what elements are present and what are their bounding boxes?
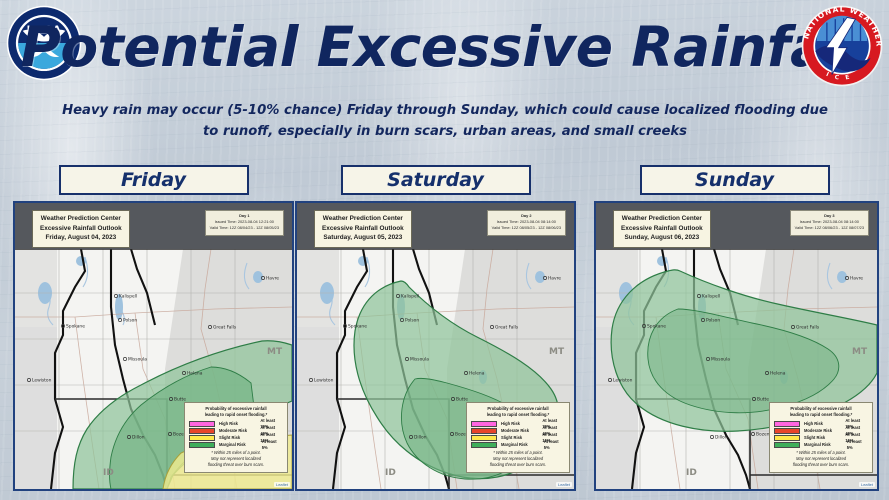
svg-text:Havre: Havre [548,276,561,282]
swatch-marginal-risk [774,442,800,448]
swatch-moderate-risk [774,428,800,434]
svg-text:Havre: Havre [266,276,279,282]
swatch-marginal-risk [471,442,497,448]
wpc-title-box: Weather Prediction Center Excessive Rain… [613,210,711,248]
risk-legend: Probability of excessive rainfall leadin… [769,402,873,473]
swatch-high-risk [189,421,215,427]
map-canvas-sunday[interactable]: MT ID Kalispell Polson Missoula Helena B… [596,249,877,489]
legend-row-marginal: Marginal Risk At least 5% [471,442,565,449]
state-label-id: ID [686,468,697,478]
legend-label-marginal: Marginal Risk [219,442,262,448]
issuance-info-box: Day 3 Issued Time: 2023-08-04 08:14:00 V… [790,210,869,236]
leaflet-attribution[interactable]: Leaflet [859,482,875,487]
wpc-title-box: Weather Prediction Center Excessive Rain… [32,210,130,248]
legend-note-line-3: flooding threat over burn scars. [189,462,283,468]
map-frame-friday[interactable]: Weather Prediction Center Excessive Rain… [13,201,294,491]
page-subtitle: Heavy rain may occur (5-10% chance) Frid… [60,100,830,142]
svg-text:Havre: Havre [850,276,863,282]
swatch-slight-risk [774,435,800,441]
svg-text:Kalispell: Kalispell [401,294,419,300]
leaflet-attribution[interactable]: Leaflet [556,482,572,487]
legend-label-marginal: Marginal Risk [501,442,544,448]
leaflet-attribution[interactable]: Leaflet [274,482,290,487]
swatch-high-risk [774,421,800,427]
state-label-id: ID [103,468,114,478]
day-tab-sunday[interactable]: Sunday [640,165,830,195]
swatch-high-risk [471,421,497,427]
svg-text:Great Falls: Great Falls [796,325,820,331]
legend-row-marginal: Marginal Risk At least 5% [774,442,868,449]
issuance-info-box: Day 1 Issued Time: 2023-08-04 12:21:00 V… [205,210,284,236]
svg-text:Missoula: Missoula [410,357,429,363]
svg-text:Dillon: Dillon [132,435,145,441]
valid-time: Valid Time: 12Z 08/06/23 - 12Z 08/07/23 [795,225,864,231]
svg-text:Lewiston: Lewiston [32,378,52,384]
svg-text:Spokane: Spokane [66,324,85,330]
day-tab-friday[interactable]: Friday [59,165,249,195]
legend-value-marginal: At least 5% [544,439,565,451]
state-label-mt: MT [852,347,868,357]
legend-label-high: High Risk [219,421,260,427]
swatch-marginal-risk [189,442,215,448]
svg-text:Dillon: Dillon [414,435,427,441]
wpc-line-2: Excessive Rainfall Outlook [40,224,122,234]
svg-text:Kalispell: Kalispell [119,294,137,300]
legend-label-slight: Slight Risk [219,435,260,441]
svg-text:Missoula: Missoula [711,357,730,363]
svg-text:Great Falls: Great Falls [213,325,237,331]
svg-text:Lewiston: Lewiston [613,378,633,384]
page-title: Potential Excessive Rainfall [88,8,796,86]
day-tab-saturday[interactable]: Saturday [341,165,531,195]
svg-text:Helena: Helena [770,371,786,377]
legend-value-marginal: At least 5% [847,439,868,451]
wpc-line-3: Saturday, August 05, 2023 [322,233,404,243]
svg-text:Helena: Helena [187,371,203,377]
valid-time: Valid Time: 12Z 08/05/23 - 12Z 08/06/23 [492,225,561,231]
map-canvas-saturday[interactable]: MT ID Kalispell Polson Missoula Helena B… [297,249,574,489]
swatch-moderate-risk [471,428,497,434]
legend-label-high: High Risk [501,421,542,427]
legend-label-slight: Slight Risk [501,435,542,441]
wpc-line-2: Excessive Rainfall Outlook [621,224,703,234]
legend-label-moderate: Moderate Risk [219,428,260,434]
page-header: NOAA NATIONAL OCEANIC AND ATMOSPHERIC AD… [0,0,889,95]
day-panel-friday: Friday Weather Prediction Center Excessi… [13,165,294,491]
legend-label-moderate: Moderate Risk [804,428,845,434]
legend-note-line-3: flooding threat over burn scars. [774,462,868,468]
legend-value-marginal: At least 5% [262,439,283,451]
map-header-bar: Weather Prediction Center Excessive Rain… [297,203,574,249]
legend-row-marginal: Marginal Risk At least 5% [189,442,283,449]
risk-legend: Probability of excessive rainfall leadin… [184,402,288,473]
valid-time: Valid Time: 12Z 08/04/23 - 12Z 08/05/23 [210,225,279,231]
swatch-moderate-risk [189,428,215,434]
legend-label-moderate: Moderate Risk [501,428,542,434]
nws-logo: NATIONAL WEATHER SERV I C E [800,4,884,88]
svg-text:Dillon: Dillon [715,435,728,441]
map-frame-sunday[interactable]: Weather Prediction Center Excessive Rain… [594,201,879,491]
wpc-line-1: Weather Prediction Center [322,214,404,224]
svg-text:Spokane: Spokane [647,324,666,330]
svg-text:Spokane: Spokane [348,324,367,330]
day-panel-sunday: Sunday Weather Prediction Center Excessi… [594,165,875,491]
svg-text:Polson: Polson [405,318,419,324]
map-header-bar: Weather Prediction Center Excessive Rain… [15,203,292,249]
svg-text:Missoula: Missoula [128,357,147,363]
swatch-slight-risk [189,435,215,441]
svg-text:Lewiston: Lewiston [314,378,334,384]
wpc-line-3: Sunday, August 06, 2023 [621,233,703,243]
legend-note-line-3: flooding threat over burn scars. [471,462,565,468]
svg-text:Kalispell: Kalispell [702,294,720,300]
map-frame-saturday[interactable]: Weather Prediction Center Excessive Rain… [295,201,576,491]
day-panel-saturday: Saturday Weather Prediction Center Exces… [295,165,576,491]
svg-text:Polson: Polson [123,318,137,324]
svg-text:Butte: Butte [757,397,769,403]
map-canvas-friday[interactable]: MT ID Kalispell Polson Missoula Helena B… [15,249,292,489]
wpc-line-1: Weather Prediction Center [621,214,703,224]
state-label-mt: MT [267,347,283,357]
swatch-slight-risk [471,435,497,441]
legend-label-marginal: Marginal Risk [804,442,847,448]
wpc-line-3: Friday, August 04, 2023 [40,233,122,243]
wpc-line-2: Excessive Rainfall Outlook [322,224,404,234]
svg-text:Polson: Polson [706,318,720,324]
legend-label-high: High Risk [804,421,845,427]
svg-text:Great Falls: Great Falls [495,325,519,331]
issuance-info-box: Day 2 Issued Time: 2023-08-04 08:14:00 V… [487,210,566,236]
map-header-bar: Weather Prediction Center Excessive Rain… [596,203,877,249]
state-label-id: ID [385,468,396,478]
risk-legend: Probability of excessive rainfall leadin… [466,402,570,473]
state-label-mt: MT [549,347,565,357]
legend-label-slight: Slight Risk [804,435,845,441]
svg-text:Helena: Helena [469,371,485,377]
wpc-title-box: Weather Prediction Center Excessive Rain… [314,210,412,248]
wpc-line-1: Weather Prediction Center [40,214,122,224]
